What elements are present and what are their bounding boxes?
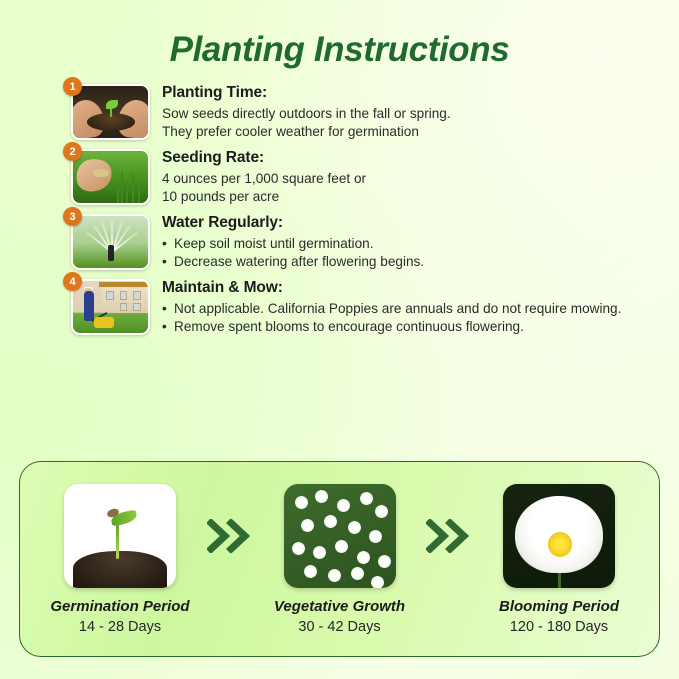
timeline-item-vegetative: Vegetative Growth 30 - 42 Days — [254, 484, 426, 635]
vegetative-image — [284, 484, 396, 588]
growth-timeline-panel: Germination Period 14 - 28 Days — [19, 461, 660, 657]
germination-duration: 14 - 28 Days — [34, 619, 206, 635]
step-1-thumbnail-wrap: 1 — [0, 84, 150, 140]
step-3-bullets: Keep soil moist until germination. Decre… — [162, 235, 667, 270]
step-2-line-1: 4 ounces per 1,000 square feet or — [162, 170, 667, 188]
step-3-image — [71, 214, 150, 270]
step-4-body: Maintain & Mow: Not applicable. Californ… — [150, 279, 679, 335]
vegetative-label: Vegetative Growth — [254, 598, 426, 615]
timeline-row: Germination Period 14 - 28 Days — [20, 462, 659, 656]
step-2-heading: Seeding Rate: — [162, 149, 667, 167]
step-3-body: Water Regularly: Keep soil moist until g… — [150, 214, 679, 270]
step-1-line-1: Sow seeds directly outdoors in the fall … — [162, 105, 667, 123]
step-3-number-badge: 3 — [63, 207, 82, 226]
step-2-thumbnail-wrap: 2 — [0, 149, 150, 205]
step-1-number-badge: 1 — [63, 77, 82, 96]
blooming-duration: 120 - 180 Days — [473, 619, 645, 635]
step-2-line-2: 10 pounds per acre — [162, 188, 667, 206]
sprouting-seedling-photo-icon — [64, 484, 176, 588]
step-3-heading: Water Regularly: — [162, 214, 667, 232]
germination-image — [64, 484, 176, 588]
blooming-image — [503, 484, 615, 588]
double-chevron-right-icon-1 — [206, 484, 254, 588]
page-title: Planting Instructions — [0, 30, 679, 70]
step-4-bullets: Not applicable. California Poppies are a… — [162, 300, 667, 335]
blooming-label: Blooming Period — [473, 598, 645, 615]
step-2-image — [71, 149, 150, 205]
step-4-number-badge: 4 — [63, 272, 82, 291]
step-item-2: 2 Seeding Rate: 4 ounces per 1,000 squar… — [0, 149, 679, 205]
step-2-number-badge: 2 — [63, 142, 82, 161]
lawn-sprinkler-watering-icon — [73, 216, 148, 268]
double-chevron-right-icon-2 — [426, 484, 474, 588]
step-item-1: 1 Planting Time: Sow seeds directly outd… — [0, 84, 679, 140]
step-4-bullet-1: Not applicable. California Poppies are a… — [162, 300, 667, 318]
white-poppy-bloom-photo-icon — [503, 484, 615, 588]
hand-spreading-grass-seed-icon — [73, 151, 148, 203]
vegetative-duration: 30 - 42 Days — [254, 619, 426, 635]
step-2-body: Seeding Rate: 4 ounces per 1,000 square … — [150, 149, 679, 205]
step-3-thumbnail-wrap: 3 — [0, 214, 150, 270]
step-1-image — [71, 84, 150, 140]
hands-holding-soil-seedling-icon — [73, 86, 148, 138]
step-1-heading: Planting Time: — [162, 84, 667, 102]
planting-instructions-infographic: Planting Instructions 1 Planting Time: S… — [0, 0, 679, 679]
step-4-thumbnail-wrap: 4 — [0, 279, 150, 335]
step-3-bullet-1: Keep soil moist until germination. — [162, 235, 667, 253]
step-1-body: Planting Time: Sow seeds directly outdoo… — [150, 84, 679, 140]
step-4-image — [71, 279, 150, 335]
germination-label: Germination Period — [34, 598, 206, 615]
step-4-heading: Maintain & Mow: — [162, 279, 667, 297]
white-flower-cluster-photo-icon — [284, 484, 396, 588]
step-1-line-2: They prefer cooler weather for germinati… — [162, 123, 667, 141]
step-3-bullet-2: Decrease watering after flowering begins… — [162, 253, 667, 271]
person-mowing-lawn-icon — [73, 281, 148, 333]
timeline-item-blooming: Blooming Period 120 - 180 Days — [473, 484, 645, 635]
step-4-bullet-2: Remove spent blooms to encourage continu… — [162, 318, 667, 336]
steps-list: 1 Planting Time: Sow seeds directly outd… — [0, 84, 679, 344]
step-item-4: 4 Maintain & Mow: — [0, 279, 679, 335]
step-item-3: 3 Water Regularly: — [0, 214, 679, 270]
timeline-item-germination: Germination Period 14 - 28 Days — [34, 484, 206, 635]
